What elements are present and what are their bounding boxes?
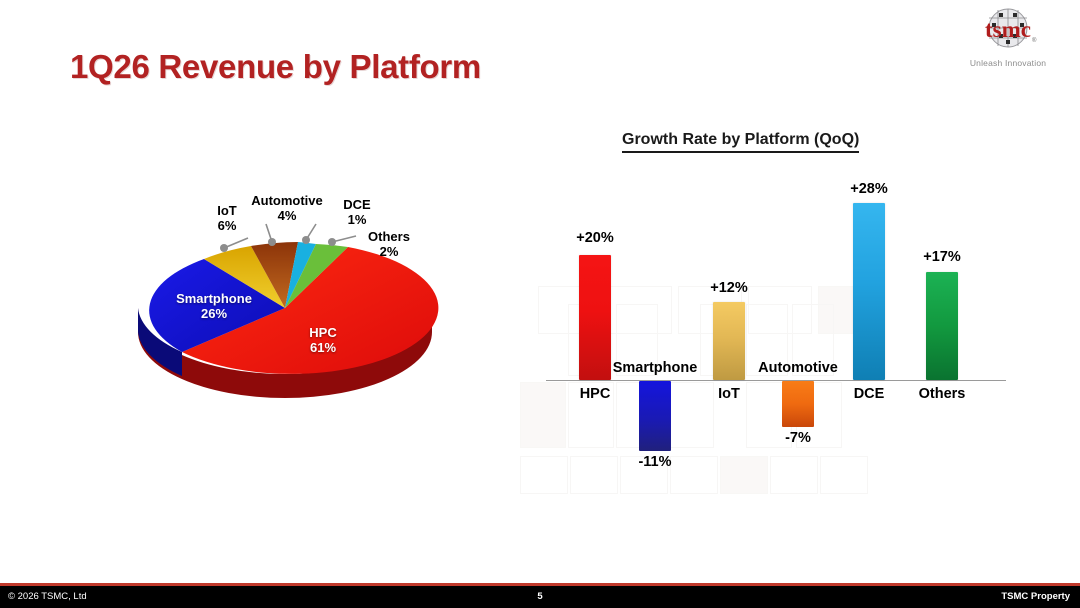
pie-label-hpc: HPC 61% [292,326,354,355]
bar-iot [713,302,745,380]
tsmc-logo-mark: tsmc ® [975,6,1041,56]
footer-property: TSMC Property [1001,591,1070,602]
pie-callout-automotive: Automotive 4% [240,194,334,223]
bar-others [926,272,958,380]
page-title: 1Q26 Revenue by Platform [70,48,481,86]
bar-category-automotive: Automotive [742,360,854,376]
bar-category-dce: DCE [835,386,903,402]
bar-dce [853,203,885,380]
tsmc-tagline: Unleash Innovation [952,58,1064,68]
tsmc-logo: tsmc ® Unleash Innovation [952,6,1064,68]
wafer-icon: tsmc ® [975,6,1041,56]
revenue-pie-chart: IoT 6% Automotive 4% DCE 1% Others 2% Sm… [120,180,460,440]
slide-canvas: tsmc ® Unleash Innovation 1Q26 Revenue b… [0,0,1080,608]
svg-text:®: ® [1032,37,1037,44]
bar-category-others: Others [902,386,982,402]
bar-chart-title: Growth Rate by Platform (QoQ) [622,131,859,153]
bar-value-automotive: -7% [764,430,832,446]
growth-rate-bar-chart: +20% HPC -11% Smartphone +12% IoT -7% Au… [546,170,1006,480]
bar-value-dce: +28% [835,181,903,197]
bar-category-iot: IoT [695,386,763,402]
bar-smartphone [639,381,671,451]
bar-value-smartphone: -11% [621,454,689,470]
pie-callout-dce: DCE 1% [334,198,380,227]
bar-value-hpc: +20% [561,230,629,246]
bar-automotive [782,381,814,427]
footer-page-number: 5 [0,591,1080,602]
footer-bar: © 2026 TSMC, Ltd 5 TSMC Property [0,586,1080,608]
pie-label-smartphone: Smartphone 26% [160,292,268,321]
zero-axis-line [546,380,1006,381]
pie-callout-others: Others 2% [358,230,420,259]
bar-value-others: +17% [908,249,976,265]
tsmc-wordmark: tsmc [985,17,1031,42]
bar-value-iot: +12% [695,280,763,296]
bar-category-hpc: HPC [561,386,629,402]
bar-category-smartphone: Smartphone [595,360,715,376]
